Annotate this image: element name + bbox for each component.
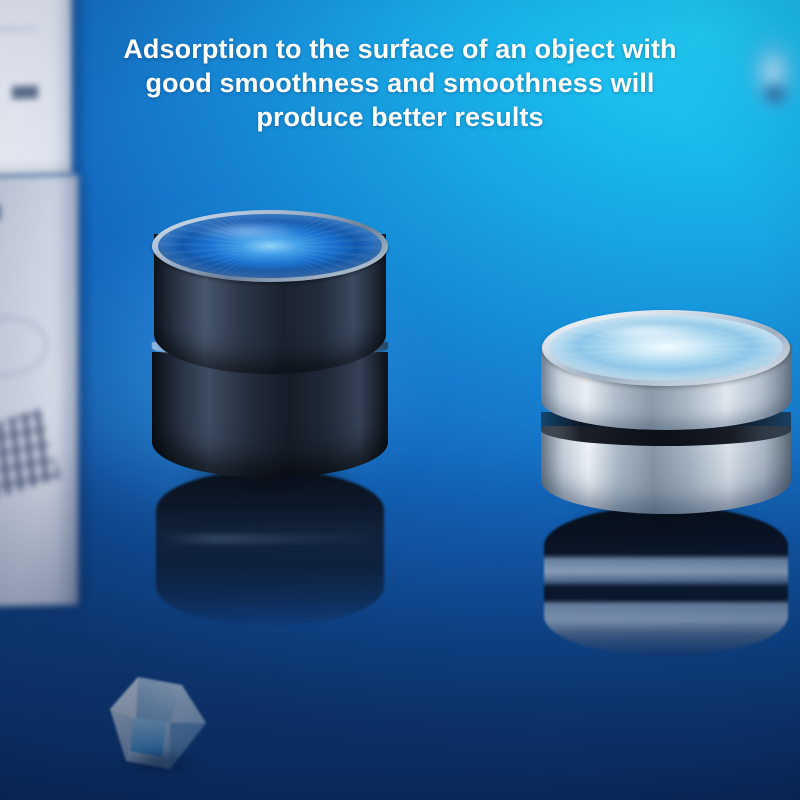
headline-line-3: produce better results <box>56 100 744 134</box>
headline-text: Adsorption to the surface of an object w… <box>0 32 800 134</box>
headline-line-1: Adsorption to the surface of an object w… <box>56 32 744 66</box>
product-photo-scene: Adsorption to the surface of an object w… <box>0 0 800 800</box>
headline-line-2: good smoothness and smoothness will <box>56 66 744 100</box>
